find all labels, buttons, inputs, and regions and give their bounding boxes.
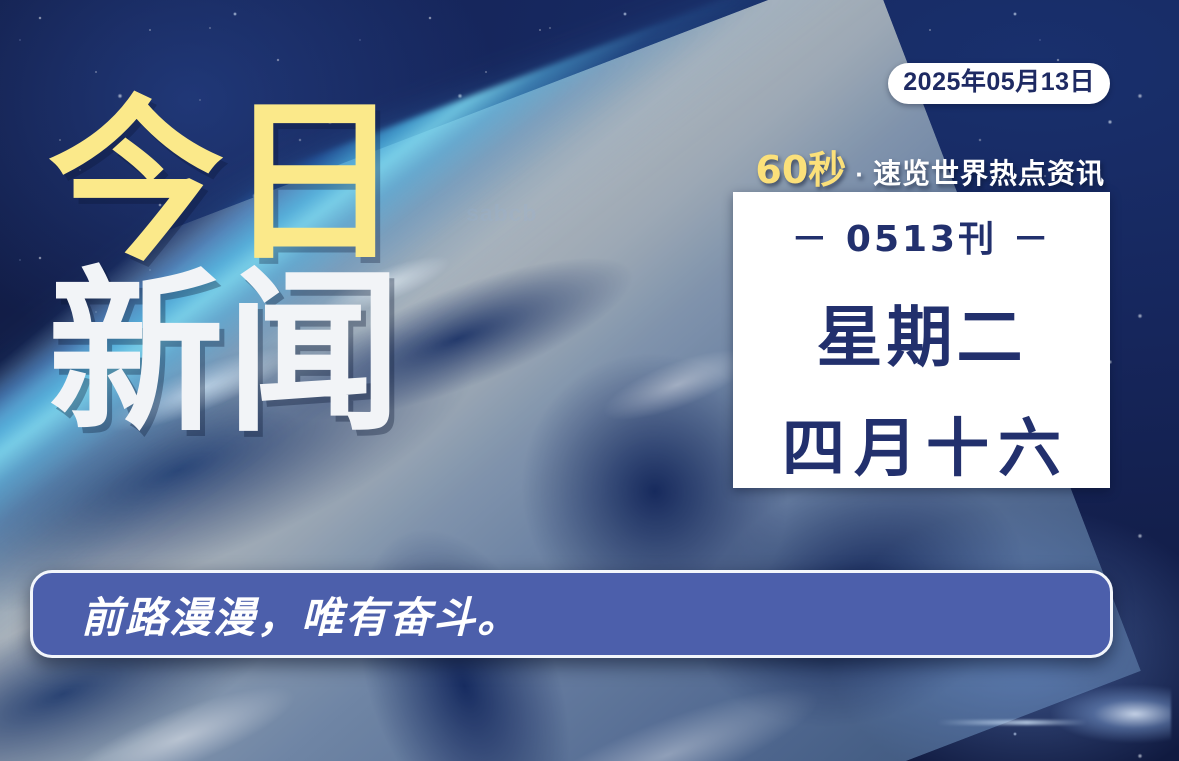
tagline: 60秒 · 速览世界热点资讯 [755, 139, 1105, 194]
lens-flare-icon [1051, 685, 1171, 743]
background-watermark: sabcb [466, 200, 537, 227]
tagline-description: 速览世界热点资讯 [873, 152, 1105, 192]
quote-bar: 前路漫漫，唯有奋斗。 [30, 570, 1113, 658]
tagline-duration: 60秒 [755, 139, 846, 194]
page-title-line-two: 新闻 [48, 271, 468, 436]
issue-number: － 0513刊 － [791, 210, 1051, 262]
page-title-line-one: 今日 [48, 100, 468, 265]
poster-title: 今日 新闻 [48, 100, 468, 437]
date-badge: 2025年05月13日 [888, 63, 1110, 104]
tagline-separator-dot: · [853, 159, 866, 190]
quote-text: 前路漫漫，唯有奋斗。 [33, 584, 521, 645]
date-info-card: － 0513刊 － 星期二 四月十六 [733, 192, 1110, 488]
weekday-label: 星期二 [817, 284, 1027, 380]
news-poster: sabcb 今日 新闻 2025年05月13日 60秒 · 速览世界热点资讯 －… [0, 0, 1179, 761]
lunar-date-label: 四月十六 [773, 398, 1070, 489]
